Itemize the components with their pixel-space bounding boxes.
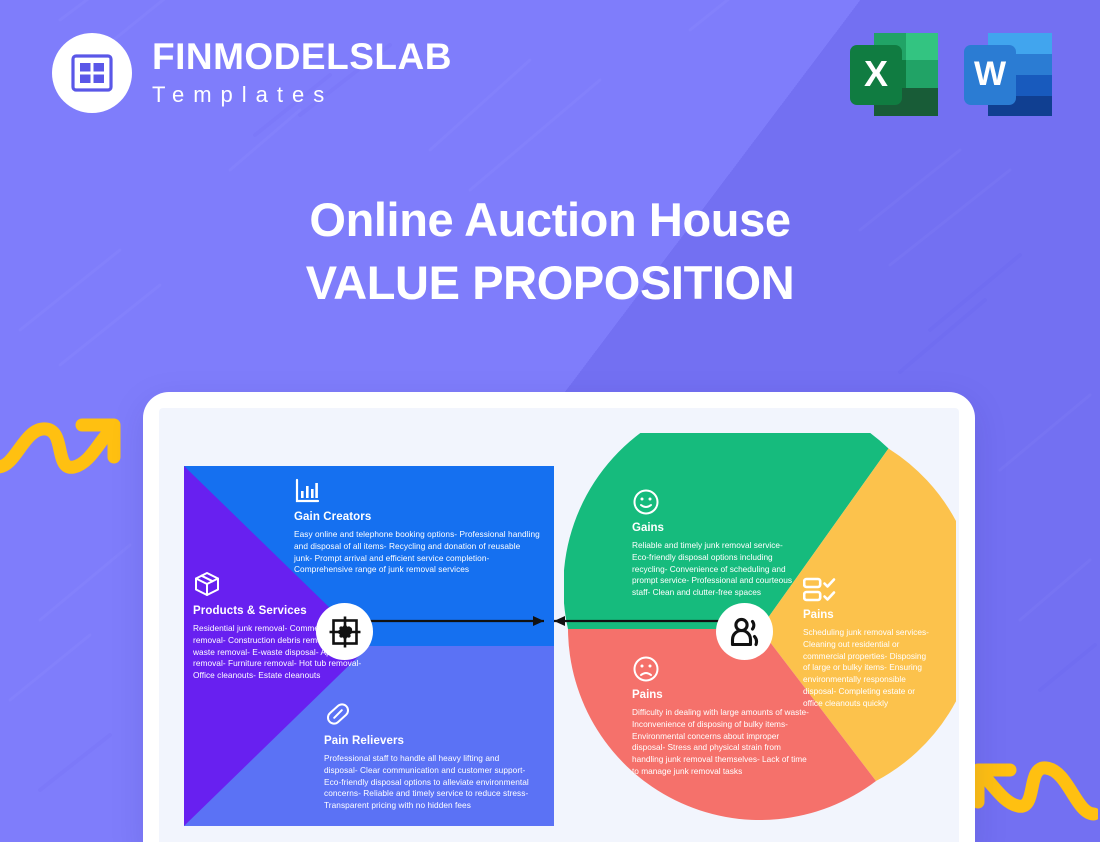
squiggle-arrow-up-right-icon [0,405,124,485]
squiggle-arrow-down-left-icon [968,752,1098,832]
fit-connector-arrows [330,612,770,630]
brand-tagline: Templates [152,82,452,108]
file-format-badges: X W [850,27,1052,122]
section-title: Pain Relievers [324,735,534,747]
section-title: Pains [632,689,812,701]
customer-people-icon [727,614,763,650]
smiley-sad-icon [632,655,660,683]
brand-name: FINMODELSLAB [152,38,452,76]
value-map-badge[interactable] [316,603,373,660]
title-line-2: VALUE PROPOSITION [0,255,1100,310]
pill-capsule-icon [324,700,352,728]
slide-title: Online Auction House VALUE PROPOSITION [0,192,1100,311]
word-icon[interactable]: W [964,27,1052,122]
section-title: Pains [803,609,931,621]
section-pains[interactable]: Pains Difficulty in dealing with large a… [632,655,812,778]
bar-chart-icon [294,478,320,504]
logo-mark [52,33,132,113]
customer-profile-badge[interactable] [716,603,773,660]
excel-icon[interactable]: X [850,27,938,122]
svg-text:W: W [974,55,1007,93]
slide-canvas: FINMODELSLAB Templates X W Online Auctio… [0,0,1100,842]
section-gain-creators[interactable]: Gain Creators Easy online and telephone … [294,478,540,576]
svg-text:X: X [864,53,888,94]
smiley-happy-icon [632,488,660,516]
package-box-icon [193,570,221,598]
brand-logo[interactable]: FINMODELSLAB Templates [52,33,452,113]
section-title: Gains [632,522,800,534]
section-title: Gain Creators [294,511,540,523]
section-body: Scheduling junk removal services- Cleani… [803,627,931,709]
gift-package-icon [327,614,363,650]
title-line-1: Online Auction House [0,192,1100,247]
section-body: Reliable and timely junk removal service… [632,540,800,599]
section-pain-relievers[interactable]: Pain Relievers Professional staff to han… [324,700,534,812]
grid-squares-icon [70,51,114,95]
section-body: Difficulty in dealing with large amounts… [632,707,812,778]
section-body: Professional staff to handle all heavy l… [324,753,534,812]
checklist-icon [803,577,837,603]
section-customer-jobs[interactable]: Pains Scheduling junk removal services- … [803,577,931,709]
section-gains[interactable]: Gains Reliable and timely junk removal s… [632,488,800,599]
